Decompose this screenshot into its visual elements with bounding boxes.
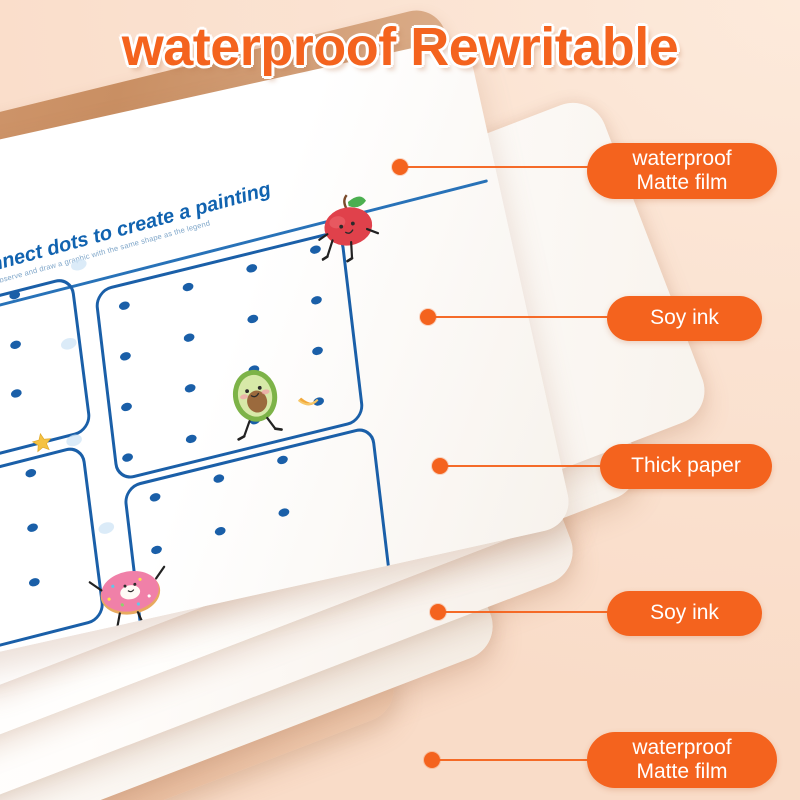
callout-label-pill[interactable]: waterproof Matte film: [587, 732, 777, 788]
callout-dot-icon: [430, 604, 446, 620]
callout-dot-icon: [432, 458, 448, 474]
callout-leader-line: [432, 759, 593, 761]
callout-label-pill[interactable]: Thick paper: [600, 444, 772, 489]
callout-leader-line: [400, 166, 593, 168]
callout-leader-line: [438, 611, 613, 613]
callout-dot-icon: [424, 752, 440, 768]
apple-character: [310, 185, 391, 274]
callout-dot-icon: [392, 159, 408, 175]
callout-label-pill[interactable]: Soy ink: [607, 591, 762, 636]
callout-label-pill[interactable]: waterproof Matte film: [587, 143, 777, 199]
infographic-canvas: Connect dots to create a painting Please…: [0, 0, 800, 800]
callout-label-pill[interactable]: Soy ink: [607, 296, 762, 341]
star-sticker: [30, 431, 53, 454]
callout-leader-line: [428, 316, 613, 318]
paper-layer-stack: Connect dots to create a painting Please…: [0, 0, 800, 800]
callout-dot-icon: [420, 309, 436, 325]
callout-leader-line: [440, 465, 606, 467]
